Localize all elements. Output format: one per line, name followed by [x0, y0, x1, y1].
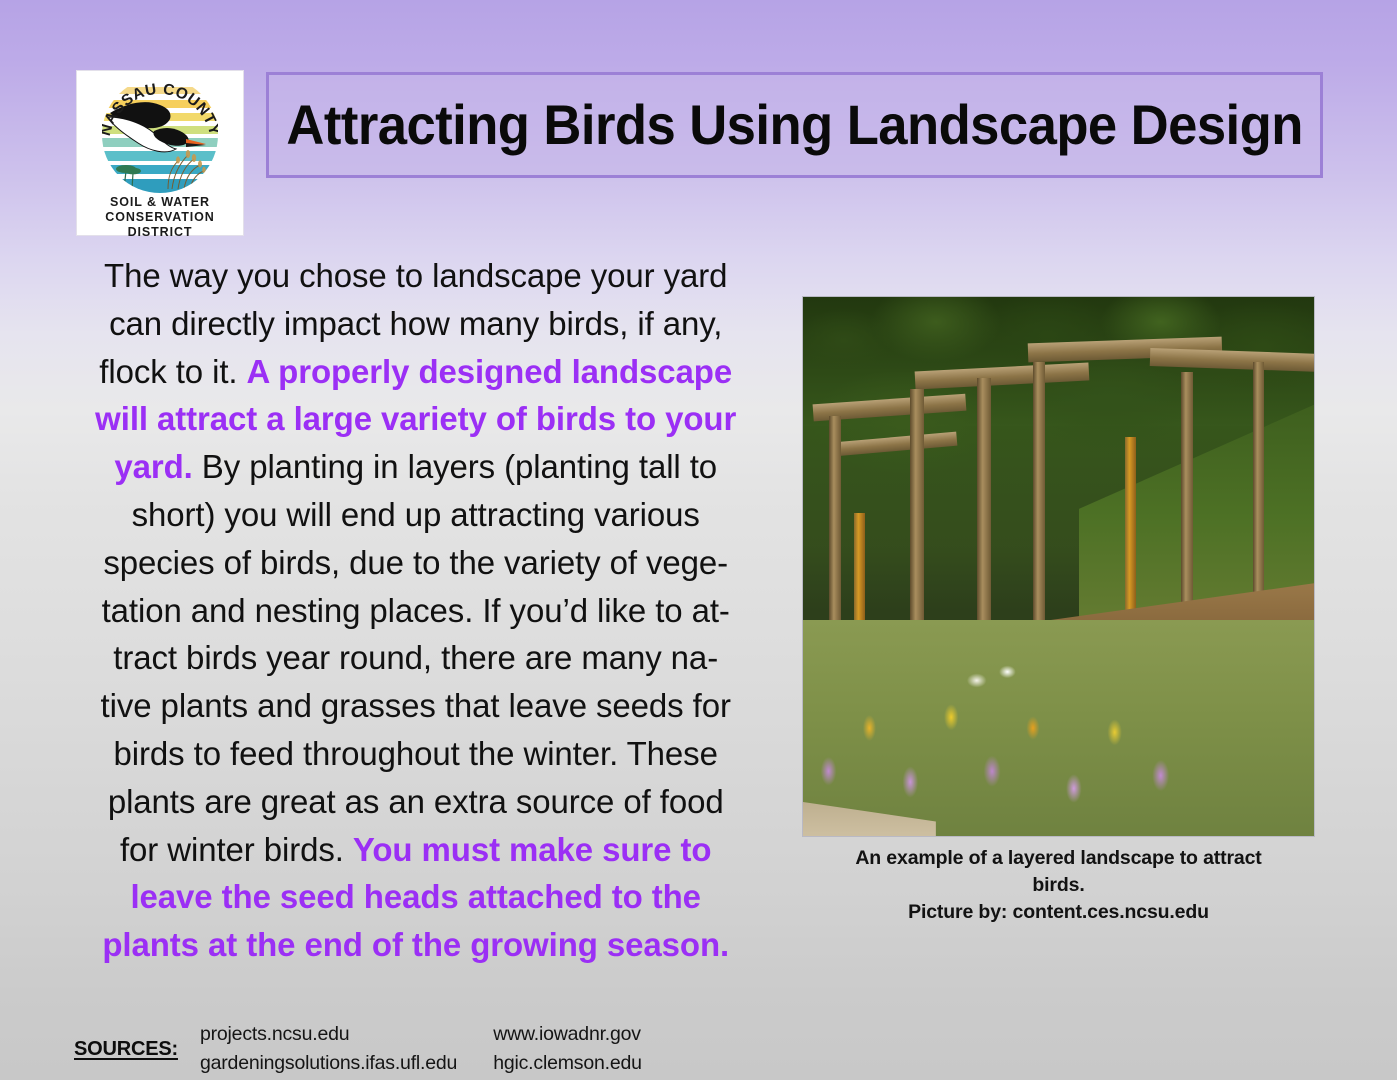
body-line: yard. By planting in layers (planting ta…	[68, 444, 763, 492]
source-link[interactable]: projects.ncsu.edu	[200, 1020, 457, 1049]
body-line: birds to feed throughout the winter. The…	[68, 731, 763, 779]
body-text-run: short) you will end up attracting variou…	[132, 497, 700, 534]
body-text-run: species of birds, due to the variety of …	[103, 545, 728, 582]
body-text-run: for winter birds.	[120, 832, 353, 869]
body-text-run: The way you chose to landscape your yard	[104, 258, 727, 295]
body-text-run: tation and nesting places. If you’d like…	[102, 593, 730, 630]
source-link[interactable]: hgic.clemson.edu	[493, 1049, 642, 1078]
body-line: will attract a large variety of birds to…	[68, 396, 763, 444]
highlighted-text: leave the seed heads attached to the	[130, 879, 700, 916]
source-link[interactable]: www.iowadnr.gov	[493, 1020, 642, 1049]
highlighted-text: You must make sure to	[353, 832, 712, 869]
body-text-run: flock to it.	[99, 354, 246, 391]
body-text-run: tive plants and grasses that leave seeds…	[101, 688, 731, 725]
poster-canvas: NASSAU COUNTY SOIL & WATER CONSERVATION …	[0, 0, 1397, 1080]
landscape-photo	[802, 296, 1315, 837]
photo-lower-flower-bed	[803, 620, 1314, 836]
body-paragraph: The way you chose to landscape your yard…	[68, 253, 763, 970]
body-line: tract birds year round, there are many n…	[68, 635, 763, 683]
body-line: for winter birds. You must make sure to	[68, 827, 763, 875]
logo-subtitle-line1: SOIL & WATER	[77, 195, 243, 210]
highlighted-text: yard.	[114, 449, 192, 486]
body-text-run: tract birds year round, there are many n…	[113, 640, 718, 677]
caption-line-2: birds.	[802, 872, 1315, 899]
title-banner: Attracting Birds Using Landscape Design	[266, 72, 1323, 178]
skimmer-bird-icon	[102, 77, 218, 193]
sources-label: SOURCES:	[74, 1038, 178, 1061]
logo-circle-scene	[102, 77, 218, 193]
body-text-run: plants are great as an extra source of f…	[108, 784, 724, 821]
logo-emblem: NASSAU COUNTY	[102, 77, 218, 193]
highlighted-text: plants at the end of the growing season.	[102, 927, 729, 964]
organization-logo: NASSAU COUNTY SOIL & WATER CONSERVATION …	[76, 70, 244, 236]
body-line: flock to it. A properly designed landsca…	[68, 349, 763, 397]
page-title: Attracting Birds Using Landscape Design	[286, 97, 1302, 153]
body-line: tation and nesting places. If you’d like…	[68, 588, 763, 636]
caption-line-1: An example of a layered landscape to att…	[802, 845, 1315, 872]
pergola-post	[1033, 362, 1045, 664]
body-line: plants are great as an extra source of f…	[68, 779, 763, 827]
body-line: The way you chose to landscape your yard	[68, 253, 763, 301]
body-text-run: birds to feed throughout the winter. The…	[114, 736, 718, 773]
photo-caption: An example of a layered landscape to att…	[802, 845, 1315, 926]
body-line: species of birds, due to the variety of …	[68, 540, 763, 588]
body-line: can directly impact how many birds, if a…	[68, 301, 763, 349]
sources-column-1: projects.ncsu.edu gardeningsolutions.ifa…	[200, 1020, 457, 1078]
logo-subtitle-line2: CONSERVATION DISTRICT	[77, 210, 243, 240]
sources-section: SOURCES: projects.ncsu.edu gardeningsolu…	[74, 1020, 642, 1078]
sources-column-2: www.iowadnr.gov hgic.clemson.edu	[493, 1020, 642, 1078]
photo-illustration	[803, 297, 1314, 836]
body-line: short) you will end up attracting variou…	[68, 492, 763, 540]
body-text-run: By planting in layers (planting tall to	[193, 449, 717, 486]
caption-line-3: Picture by: content.ces.ncsu.edu	[802, 899, 1315, 926]
body-line: leave the seed heads attached to the	[68, 874, 763, 922]
body-text-run: can directly impact how many birds, if a…	[109, 306, 722, 343]
body-line: plants at the end of the growing season.	[68, 922, 763, 970]
body-line: tive plants and grasses that leave seeds…	[68, 683, 763, 731]
source-link[interactable]: gardeningsolutions.ifas.ufl.edu	[200, 1049, 457, 1078]
highlighted-text: will attract a large variety of birds to…	[95, 401, 736, 438]
highlighted-text: A properly designed landscape	[247, 354, 733, 391]
